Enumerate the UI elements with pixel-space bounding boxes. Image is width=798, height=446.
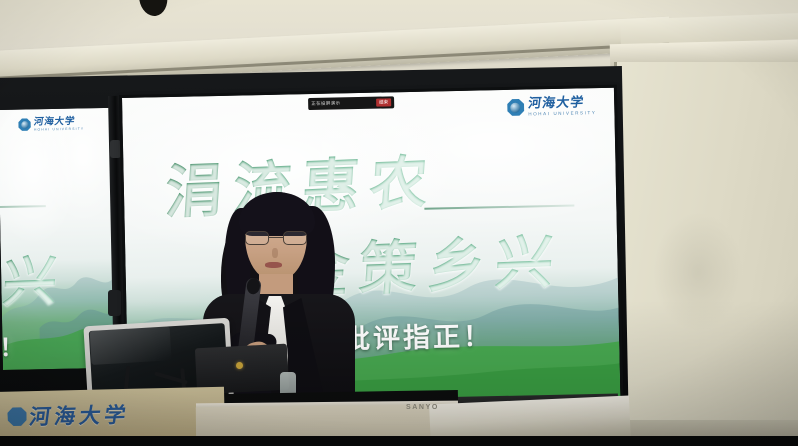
notification-text: 正在投屏演示 [311, 100, 373, 107]
logo-chinese-text: 河海大学 [33, 116, 85, 127]
slide-logo-left: 河海大学 HOHAI UNIVERSITY [18, 116, 84, 132]
logo-chinese-text: 河海大学 [527, 96, 597, 110]
slide-footer-left: 正！ [0, 327, 27, 363]
notification-end-badge[interactable]: 结束 [376, 98, 391, 106]
glasses-bridge [269, 237, 283, 238]
hohai-emblem-icon [18, 118, 31, 131]
equipment-led-icon [236, 362, 243, 369]
glasses-lens-left [245, 231, 269, 245]
glasses-lens-right [283, 231, 307, 245]
screencast-notification-bar[interactable]: 正在投屏演示 结束 [308, 96, 394, 110]
screen-divider-clip-top [110, 140, 121, 158]
slide-title-left: 兴 [0, 236, 59, 317]
title-divider-rule [424, 205, 574, 210]
glasses-icon [245, 231, 307, 246]
slide-logo-main: 河海大学 HOHAI UNIVERSITY [507, 96, 596, 117]
hohai-emblem-icon [507, 99, 524, 116]
presenter-hair-front [239, 192, 315, 236]
presenter-nose [272, 248, 278, 258]
whiteboard-panel-right[interactable] [614, 62, 798, 434]
hohai-emblem-icon [7, 407, 26, 426]
podium-name-plate: 河海大学 [0, 397, 139, 434]
title-divider-rule-left [0, 205, 46, 209]
presenter-mouth [265, 262, 282, 268]
logo-english-text: HOHAI UNIVERSITY [34, 127, 84, 131]
logo-english-text: HOHAI UNIVERSITY [528, 111, 596, 117]
podium-sign-text: 河海大学 [28, 399, 132, 431]
floor-shadow [0, 436, 798, 446]
monitor-glare [90, 326, 172, 365]
lecture-hall-photo: 河海大学 HOHAI UNIVERSITY 兴 正！ [0, 0, 798, 446]
screen-divider-clip-bottom [108, 290, 121, 316]
projector-brand-label: SANYO [406, 404, 439, 411]
